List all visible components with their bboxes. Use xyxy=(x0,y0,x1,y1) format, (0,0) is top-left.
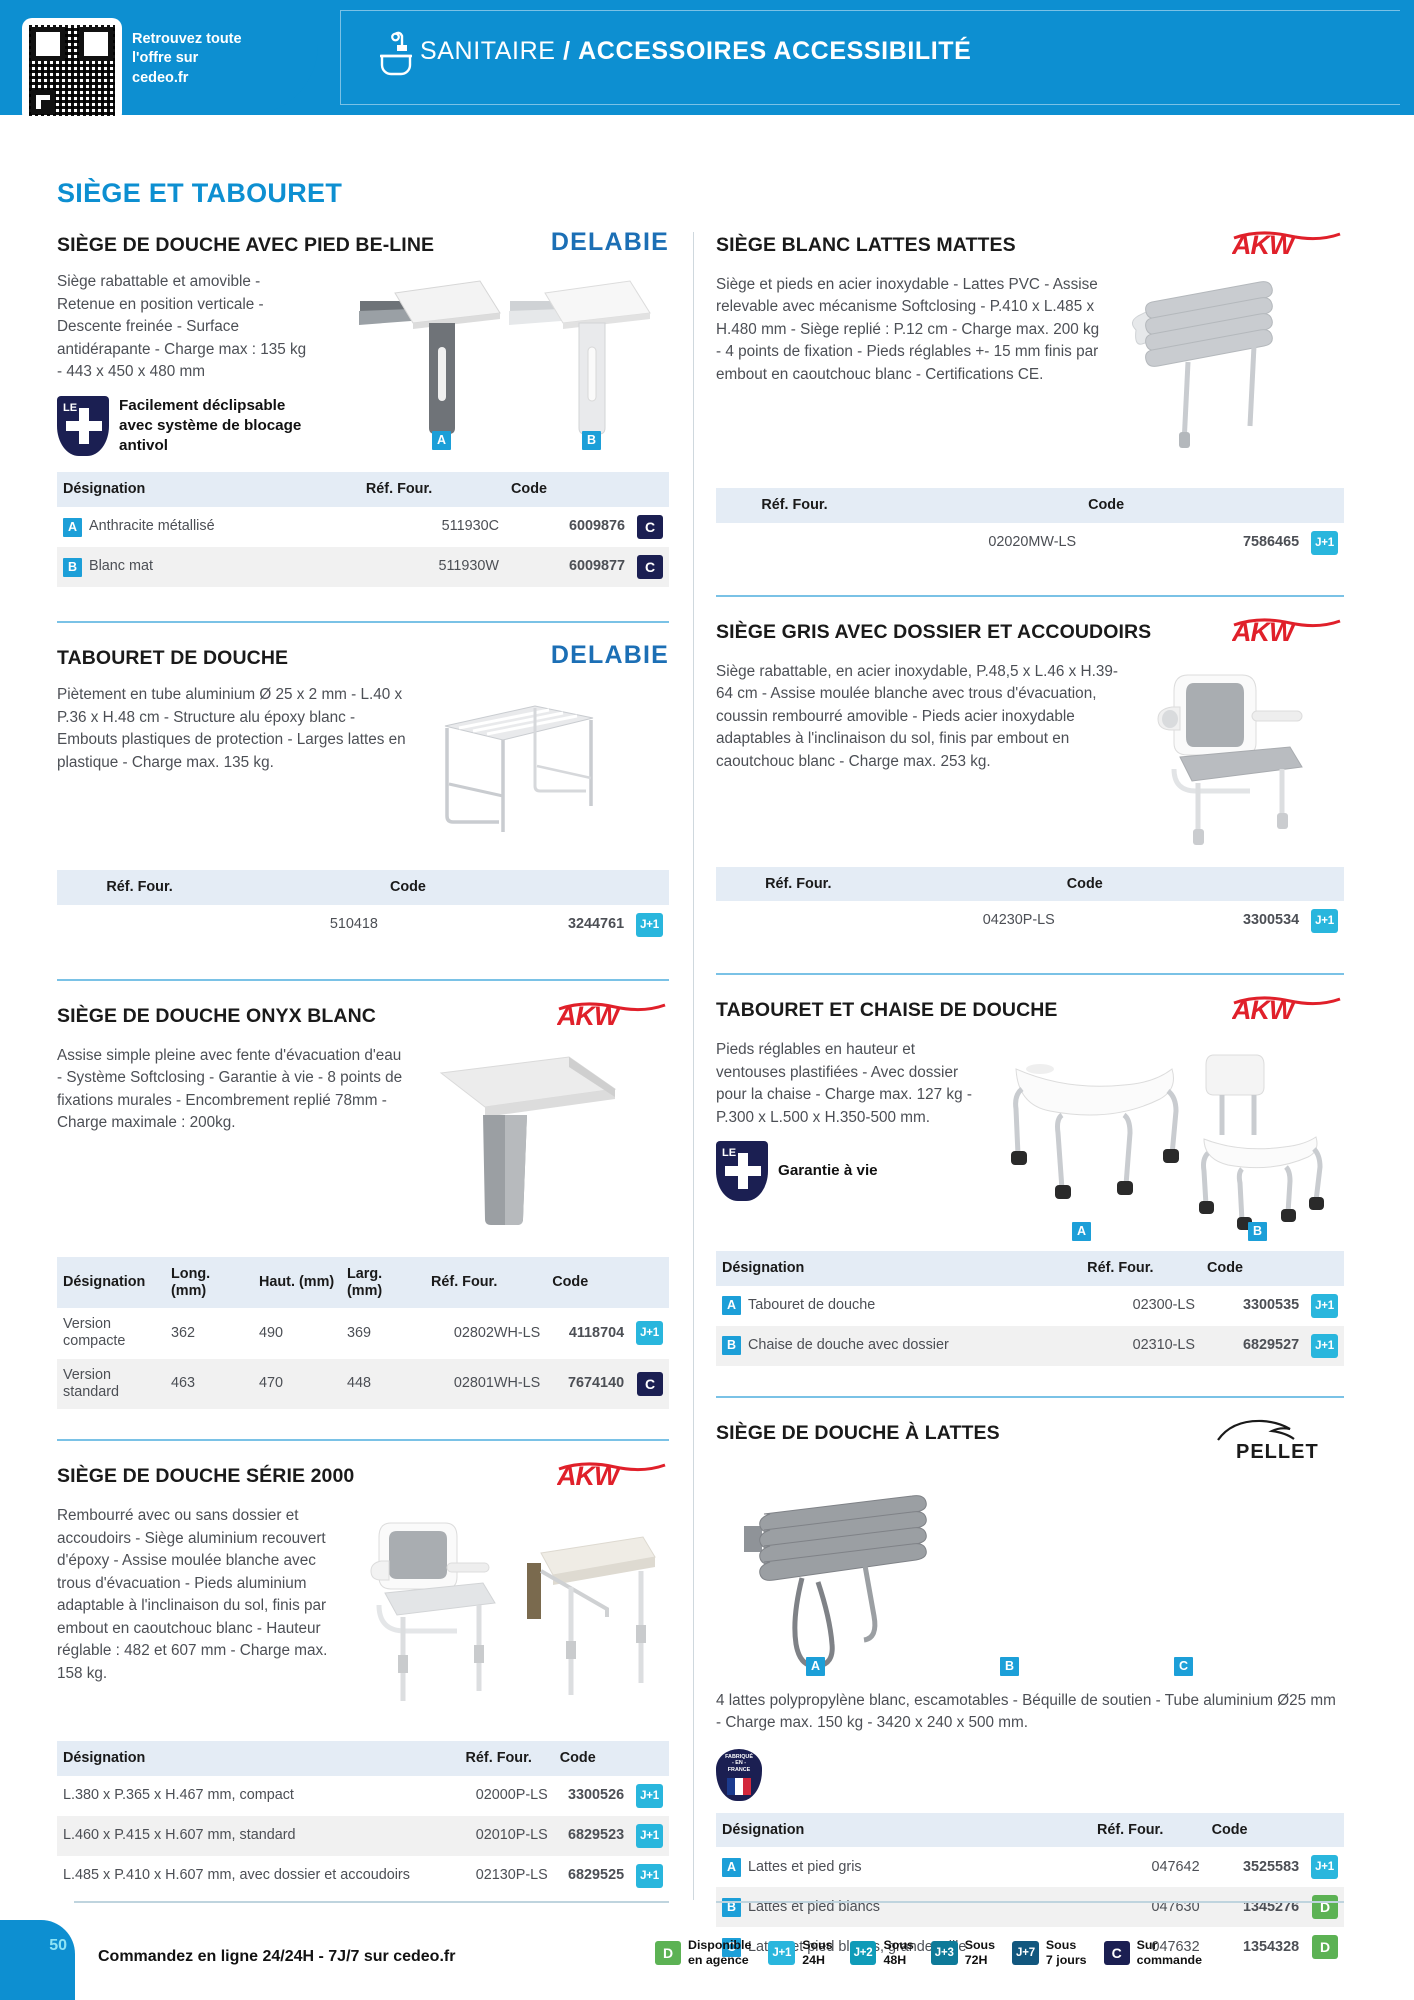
th-ref: Réf. Four. xyxy=(460,1741,554,1776)
qr-code-icon[interactable] xyxy=(22,18,122,123)
delivery-badge: C xyxy=(637,515,663,539)
table-header-row: Réf. Four. Code xyxy=(57,870,669,905)
cell-badge: J+1 xyxy=(630,905,669,945)
table-row[interactable]: L.380 x P.365 x H.467 mm, compact 02000P… xyxy=(57,1776,669,1816)
th-code: Code xyxy=(1082,488,1305,523)
figure-chip-a: A xyxy=(1072,1222,1091,1241)
product-table-tabouret: Réf. Four. Code 510418 3244761 J+1 xyxy=(57,870,669,945)
legend-badge-d: D xyxy=(655,1941,681,1965)
cell-code: 1354328 xyxy=(1206,1927,1306,1967)
brand-logo-akw: AKW xyxy=(1232,230,1344,260)
cell-code: 7674140 xyxy=(546,1359,630,1410)
footer-cta: Commandez en ligne 24/24H - 7J/7 sur ced… xyxy=(98,1948,455,1966)
th-badge xyxy=(630,1741,669,1776)
table-header-row: Désignation Réf. Four. Code xyxy=(716,1813,1344,1848)
th-badge xyxy=(1305,867,1344,902)
product-block-serie-2000: SIÈGE DE DOUCHE SÉRIE 2000 AKW Rembourré… xyxy=(57,1439,669,1896)
th-spacer xyxy=(57,870,100,905)
table-header-row: Réf. Four. Code xyxy=(716,488,1344,523)
th-code: Code xyxy=(1201,1251,1305,1286)
cell-code: 6009877 xyxy=(505,547,631,587)
legend-badge-j1: J+1 xyxy=(768,1941,795,1965)
legend-badge-j7: J+7 xyxy=(1012,1941,1039,1965)
figure-chip-c: C xyxy=(1174,1657,1193,1676)
bathtub-icon xyxy=(378,30,414,78)
section-divider xyxy=(57,1439,669,1441)
product-title: SIÈGE DE DOUCHE AVEC PIED BE-LINE xyxy=(57,230,434,257)
product-title: TABOURET ET CHAISE DE DOUCHE xyxy=(716,995,1058,1022)
legend-item-commande: C Surcommande xyxy=(1104,1938,1202,1967)
cell-badge: J+1 xyxy=(1305,1286,1344,1326)
table-header-row: Désignation Réf. Four. Code xyxy=(716,1251,1344,1286)
breadcrumb-primary: SANITAIRE xyxy=(420,37,556,65)
th-long: Long. (mm) xyxy=(165,1257,253,1308)
cell-designation: A Tabouret de douche xyxy=(716,1286,1081,1326)
figure-chip-b: B xyxy=(582,431,601,450)
th-designation: Désignation xyxy=(57,1257,165,1308)
cell-ref: 02130P-LS xyxy=(460,1856,554,1896)
cell-ref: 02802WH-LS xyxy=(425,1308,546,1359)
th-code: Code xyxy=(554,1741,630,1776)
legend-badge-j3: J+3 xyxy=(931,1941,958,1965)
delivery-badge: D xyxy=(1312,1895,1338,1919)
mif-line2: - EN - xyxy=(716,1760,762,1767)
product-title: TABOURET DE DOUCHE xyxy=(57,643,288,670)
cell-code: 3300535 xyxy=(1201,1286,1305,1326)
th-spacer xyxy=(716,867,759,902)
product-title: SIÈGE DE DOUCHE À LATTES xyxy=(716,1418,1000,1445)
cell-designation: A Lattes et pied gris xyxy=(716,1847,1091,1887)
delivery-badge: J+1 xyxy=(636,1864,663,1888)
th-badge xyxy=(630,1257,669,1308)
delivery-badge: J+1 xyxy=(1311,531,1338,555)
product-title: SIÈGE DE DOUCHE SÉRIE 2000 xyxy=(57,1461,354,1488)
breadcrumb: SANITAIRE / ACCESSOIRES ACCESSIBILITÉ xyxy=(420,37,971,66)
cell-badge: J+1 xyxy=(630,1816,669,1856)
right-column: SIÈGE BLANC LATTES MATTES AKW Siège et p… xyxy=(716,230,1344,1967)
table-row[interactable]: A Lattes et pied gris 047642 3525583 J+1 xyxy=(716,1847,1344,1887)
row-chip: A xyxy=(63,518,82,537)
product-title: SIÈGE GRIS AVEC DOSSIER ET ACCOUDOIRS xyxy=(716,617,1151,644)
product-table-be-line: Désignation Réf. Four. Code A Anthracite… xyxy=(57,472,669,587)
delivery-badge: J+1 xyxy=(1311,909,1338,933)
product-image-lattes-mattes xyxy=(1118,274,1330,454)
product-description: Pieds réglables en hauteur et ventouses … xyxy=(716,1039,988,1129)
cell-larg: 369 xyxy=(341,1308,425,1359)
cell-code: 1345276 xyxy=(1206,1887,1306,1927)
page-title: SIÈGE ET TABOURET xyxy=(57,178,342,209)
cell-designation: B Blanc mat xyxy=(57,547,360,587)
catalog-page: Retrouvez toute l'offre sur cedeo.fr SAN… xyxy=(0,0,1414,2000)
cell-haut: 490 xyxy=(253,1308,341,1359)
page-number-tab: 50 xyxy=(0,1920,75,2000)
th-spacer xyxy=(716,488,755,523)
row-chip: B xyxy=(722,1336,741,1355)
row-chip: A xyxy=(722,1858,741,1877)
cell-ref: 02020MW-LS xyxy=(755,523,1082,563)
th-code: Code xyxy=(546,1257,630,1308)
cell-ref: 510418 xyxy=(100,905,384,945)
cell-badge: J+1 xyxy=(1305,1326,1344,1366)
th-ref: Réf. Four. xyxy=(755,488,1082,523)
section-divider xyxy=(716,1396,1344,1398)
product-image-be-line: A B xyxy=(325,271,655,451)
row-designation-text: Tabouret de douche xyxy=(748,1297,875,1314)
svg-text:PELLET: PELLET xyxy=(1236,1441,1319,1462)
product-table-siege-gris: Réf. Four. Code 04230P-LS 3300534 J+1 xyxy=(716,867,1344,942)
cell-code: 6829527 xyxy=(1201,1326,1305,1366)
th-designation: Désignation xyxy=(57,1741,460,1776)
row-designation-text: Blanc mat xyxy=(89,558,153,575)
th-designation: Désignation xyxy=(57,472,360,507)
legend-item-j1: J+1 Sous24H xyxy=(768,1938,832,1967)
le-plus-text: Garantie à vie xyxy=(778,1161,878,1181)
table-row[interactable]: 02020MW-LS 7586465 J+1 xyxy=(716,523,1344,563)
left-column: SIÈGE DE DOUCHE AVEC PIED BE-LINE DELABI… xyxy=(57,230,669,1896)
delivery-badge: J+1 xyxy=(1311,1855,1338,1879)
th-ref: Réf. Four. xyxy=(1091,1813,1206,1848)
mif-line1: FABRIQUÉ xyxy=(716,1754,762,1761)
cell-ref: 02310-LS xyxy=(1081,1326,1201,1366)
product-description: Siège et pieds en acier inoxydable - Lat… xyxy=(716,274,1108,386)
product-block-siege-gris: SIÈGE GRIS AVEC DOSSIER ET ACCOUDOIRS AK… xyxy=(716,595,1344,942)
shield-le-label: LE xyxy=(63,402,77,414)
product-table-tabouret-chaise: Désignation Réf. Four. Code A Tabouret d… xyxy=(716,1251,1344,1366)
table-row[interactable]: A Tabouret de douche 02300-LS 3300535 J+… xyxy=(716,1286,1344,1326)
product-description: Siège rabattable et amovible - Retenue e… xyxy=(57,271,315,383)
delivery-badge: J+1 xyxy=(1311,1294,1338,1318)
figure-chip-b: B xyxy=(1248,1222,1267,1241)
cell-badge: D xyxy=(1305,1887,1344,1927)
cell-designation xyxy=(716,523,755,563)
le-plus-text: Facilement déclipsable avec système de b… xyxy=(119,396,315,457)
product-description: Rembourré avec ou sans dossier et accoud… xyxy=(57,1505,347,1685)
product-image-serie-2000 xyxy=(357,1505,657,1735)
row-designation-text: Anthracite métallisé xyxy=(89,518,215,535)
table-header-row: Désignation Réf. Four. Code xyxy=(57,472,669,507)
th-badge xyxy=(1305,1251,1344,1286)
table-header-row: Désignation Long. (mm) Haut. (mm) Larg. … xyxy=(57,1257,669,1308)
shield-plus-icon: LE xyxy=(57,396,109,456)
cell-code: 6829523 xyxy=(554,1816,630,1856)
le-plus-badge: LE Facilement déclipsable avec système d… xyxy=(57,396,315,457)
cell-badge: J+1 xyxy=(630,1856,669,1896)
cell-ref: 047642 xyxy=(1091,1847,1206,1887)
product-block-be-line: SIÈGE DE DOUCHE AVEC PIED BE-LINE DELABI… xyxy=(57,230,669,587)
th-ref: Réf. Four. xyxy=(360,472,505,507)
product-block-tabouret-chaise: TABOURET ET CHAISE DE DOUCHE AKW Pieds r… xyxy=(716,973,1344,1366)
table-row[interactable]: L.485 x P.410 x H.607 mm, avec dossier e… xyxy=(57,1856,669,1896)
delivery-badge: J+1 xyxy=(636,913,663,937)
section-divider xyxy=(716,595,1344,597)
table-row[interactable]: B Blanc mat 511930W 6009877 C xyxy=(57,547,669,587)
th-code: Code xyxy=(384,870,630,905)
product-description: Siège rabattable, en acier inoxydable, P… xyxy=(716,661,1124,773)
cell-badge: J+1 xyxy=(1305,1847,1344,1887)
legend-badge-j2: J+2 xyxy=(850,1941,877,1965)
cell-badge: J+1 xyxy=(630,1308,669,1359)
cell-code: 4118704 xyxy=(546,1308,630,1359)
brand-logo-delabie: DELABIE xyxy=(551,230,669,255)
footer-divider-left xyxy=(74,1901,669,1903)
cell-designation: L.485 x P.410 x H.607 mm, avec dossier e… xyxy=(57,1856,460,1896)
table-row[interactable]: B Chaise de douche avec dossier 02310-LS… xyxy=(716,1326,1344,1366)
th-code: Code xyxy=(1061,867,1305,902)
product-block-lattes-mattes: SIÈGE BLANC LATTES MATTES AKW Siège et p… xyxy=(716,230,1344,563)
breadcrumb-secondary: ACCESSOIRES ACCESSIBILITÉ xyxy=(578,37,971,65)
cell-designation xyxy=(57,905,100,945)
cell-badge: C xyxy=(630,1359,669,1410)
footer-divider-right xyxy=(716,1901,1344,1903)
legend-item-j3: J+3 Sous72H xyxy=(931,1938,995,1967)
th-ref: Réf. Four. xyxy=(759,867,1061,902)
product-table-onyx: Désignation Long. (mm) Haut. (mm) Larg. … xyxy=(57,1257,669,1409)
brand-logo-akw: AKW xyxy=(557,1461,669,1491)
brand-logo-pellet: PELLET xyxy=(1212,1418,1344,1462)
figure-chip-a: A xyxy=(432,431,451,450)
table-row[interactable]: Version standard 463 470 448 02801WH-LS … xyxy=(57,1359,669,1410)
brand-logo-delabie: DELABIE xyxy=(551,643,669,668)
th-ref: Réf. Four. xyxy=(1081,1251,1201,1286)
legend-label-c: Surcommande xyxy=(1137,1938,1202,1967)
legend-label-j7: Sous7 jours xyxy=(1046,1938,1087,1967)
cell-long: 362 xyxy=(165,1308,253,1359)
cell-ref: 04230P-LS xyxy=(759,901,1061,941)
row-chip: B xyxy=(63,558,82,577)
th-code: Code xyxy=(1206,1813,1306,1848)
cell-ref: 02010P-LS xyxy=(460,1816,554,1856)
qr-caption: Retrouvez toute l'offre sur cedeo.fr xyxy=(132,30,252,88)
table-row[interactable]: B Lattes et pied blancs 047630 1345276 D xyxy=(716,1887,1344,1927)
cell-designation: L.380 x P.365 x H.467 mm, compact xyxy=(57,1776,460,1816)
table-row[interactable]: 510418 3244761 J+1 xyxy=(57,905,669,945)
th-haut: Haut. (mm) xyxy=(253,1257,341,1308)
product-image-tabouret-chaise: A B xyxy=(998,1039,1328,1239)
shield-plus-icon: LE xyxy=(716,1141,768,1201)
th-badge xyxy=(631,472,669,507)
delivery-badge: D xyxy=(1312,1935,1338,1959)
th-ref: Réf. Four. xyxy=(425,1257,546,1308)
product-description: Assise simple pleine avec fente d'évacua… xyxy=(57,1045,409,1135)
th-badge xyxy=(630,870,669,905)
legend-item-j7: J+7 Sous7 jours xyxy=(1012,1938,1087,1967)
cell-badge: J+1 xyxy=(1305,523,1344,563)
delivery-badge: C xyxy=(637,555,663,579)
figure-chip-a: A xyxy=(806,1657,825,1676)
product-title: SIÈGE BLANC LATTES MATTES xyxy=(716,230,1016,257)
cell-designation: L.460 x P.415 x H.607 mm, standard xyxy=(57,1816,460,1856)
cell-badge: J+1 xyxy=(1305,901,1344,941)
delivery-badge: J+1 xyxy=(636,1784,663,1808)
legend-label-j1: Sous24H xyxy=(802,1938,832,1967)
cell-designation: Version standard xyxy=(57,1359,165,1410)
product-table-lattes-mattes: Réf. Four. Code 02020MW-LS 7586465 J+1 xyxy=(716,488,1344,563)
legend-label-j3: Sous72H xyxy=(965,1938,995,1967)
delivery-legend: D Disponibleen agence J+1 Sous24H J+2 So… xyxy=(655,1938,1202,1967)
delivery-badge: J+1 xyxy=(1311,1334,1338,1358)
product-description: Piètement en tube aluminium Ø 25 x 2 mm … xyxy=(57,684,415,774)
le-plus-badge: LE Garantie à vie xyxy=(716,1141,988,1201)
cell-haut: 470 xyxy=(253,1359,341,1410)
column-divider xyxy=(693,232,694,1900)
cell-code: 3244761 xyxy=(384,905,630,945)
cell-designation xyxy=(716,901,759,941)
brand-logo-akw: AKW xyxy=(1232,617,1344,647)
th-badge xyxy=(1305,488,1344,523)
cell-code: 3300534 xyxy=(1061,901,1305,941)
cell-badge: J+1 xyxy=(630,1776,669,1816)
section-divider xyxy=(716,973,1344,975)
row-designation-text: Chaise de douche avec dossier xyxy=(748,1337,949,1354)
cell-ref: 511930W xyxy=(360,547,505,587)
brand-logo-akw: AKW xyxy=(557,1001,669,1031)
cell-designation: B Chaise de douche avec dossier xyxy=(716,1326,1081,1366)
delivery-badge: C xyxy=(637,1372,663,1396)
row-designation-text: Lattes et pied gris xyxy=(748,1859,862,1876)
cell-ref: 02000P-LS xyxy=(460,1776,554,1816)
cell-long: 463 xyxy=(165,1359,253,1410)
cell-badge: D xyxy=(1305,1927,1344,1967)
section-divider xyxy=(57,621,669,623)
table-header-row: Désignation Réf. Four. Code xyxy=(57,1741,669,1776)
product-block-tabouret-douche: TABOURET DE DOUCHE DELABIE Piètement en … xyxy=(57,621,669,945)
page-header: Retrouvez toute l'offre sur cedeo.fr SAN… xyxy=(0,0,1414,115)
product-image-siege-lattes: A B C xyxy=(716,1474,1344,1684)
cell-ref: 02300-LS xyxy=(1081,1286,1201,1326)
delivery-badge: J+1 xyxy=(636,1824,663,1848)
cell-designation: A Anthracite métallisé xyxy=(57,507,360,547)
mif-line3: FRANCE xyxy=(716,1767,762,1774)
cell-code: 6009876 xyxy=(505,507,631,547)
table-row[interactable]: A Anthracite métallisé 511930C 6009876 C xyxy=(57,507,669,547)
figure-chip-b: B xyxy=(1000,1657,1019,1676)
breadcrumb-separator: / xyxy=(563,37,571,65)
product-table-serie-2000: Désignation Réf. Four. Code L.380 x P.36… xyxy=(57,1741,669,1896)
product-image-siege-gris xyxy=(1134,661,1334,851)
th-designation: Désignation xyxy=(716,1251,1081,1286)
product-title: SIÈGE DE DOUCHE ONYX BLANC xyxy=(57,1001,376,1028)
cell-designation: Version compacte xyxy=(57,1308,165,1359)
shield-le-label: LE xyxy=(722,1147,736,1159)
cell-ref: 511930C xyxy=(360,507,505,547)
cell-code: 7586465 xyxy=(1082,523,1305,563)
cell-code: 6829525 xyxy=(554,1856,630,1896)
table-row[interactable]: 04230P-LS 3300534 J+1 xyxy=(716,901,1344,941)
cell-designation: B Lattes et pied blancs xyxy=(716,1887,1091,1927)
cell-badge: C xyxy=(631,547,669,587)
qr-promo-tab: Retrouvez toute l'offre sur cedeo.fr xyxy=(0,0,318,115)
th-ref: Réf. Four. xyxy=(100,870,384,905)
cell-larg: 448 xyxy=(341,1359,425,1410)
cell-code: 3300526 xyxy=(554,1776,630,1816)
legend-badge-c: C xyxy=(1104,1941,1130,1965)
th-code: Code xyxy=(505,472,631,507)
cell-ref: 047630 xyxy=(1091,1887,1206,1927)
table-header-row: Réf. Four. Code xyxy=(716,867,1344,902)
product-image-onyx xyxy=(419,1045,649,1235)
cell-badge: C xyxy=(631,507,669,547)
product-block-onyx-blanc: SIÈGE DE DOUCHE ONYX BLANC AKW Assise si… xyxy=(57,979,669,1409)
th-badge xyxy=(1305,1813,1344,1848)
cell-ref: 02801WH-LS xyxy=(425,1359,546,1410)
legend-item-j2: J+2 Sous48H xyxy=(850,1938,914,1967)
page-number: 50 xyxy=(0,1937,67,1955)
row-chip: A xyxy=(722,1296,741,1315)
table-row[interactable]: L.460 x P.415 x H.607 mm, standard 02010… xyxy=(57,1816,669,1856)
delivery-badge: J+1 xyxy=(636,1321,663,1345)
product-description: 4 lattes polypropylène blanc, escamotabl… xyxy=(716,1690,1344,1735)
product-block-siege-lattes: SIÈGE DE DOUCHE À LATTES PELLET xyxy=(716,1396,1344,1968)
legend-label-j2: Sous48H xyxy=(883,1938,913,1967)
section-divider xyxy=(57,979,669,981)
cell-code: 3525583 xyxy=(1206,1847,1306,1887)
product-image-tabouret xyxy=(425,684,655,844)
made-in-france-icon: FABRIQUÉ - EN - FRANCE xyxy=(716,1749,762,1801)
brand-logo-akw: AKW xyxy=(1232,995,1344,1025)
th-designation: Désignation xyxy=(716,1813,1091,1848)
legend-label-d: Disponibleen agence xyxy=(688,1938,751,1967)
table-row[interactable]: Version compacte 362 490 369 02802WH-LS … xyxy=(57,1308,669,1359)
legend-item-disponible: D Disponibleen agence xyxy=(655,1938,751,1967)
th-larg: Larg. (mm) xyxy=(341,1257,425,1308)
